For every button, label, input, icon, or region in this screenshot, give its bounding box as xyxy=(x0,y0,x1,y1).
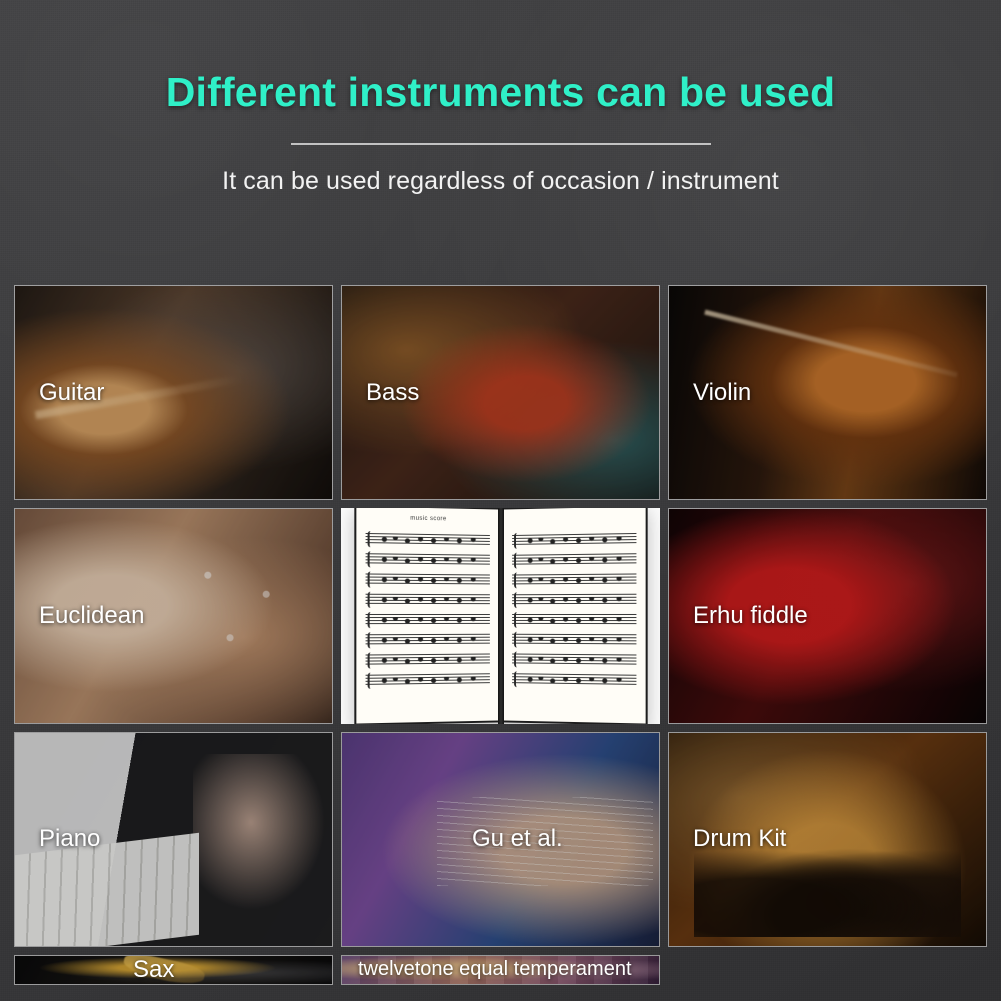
grid-cell-guitar[interactable]: Guitar xyxy=(14,285,333,500)
page-subtitle: It can be used regardless of occasion / … xyxy=(0,167,1001,196)
staff-line xyxy=(365,673,489,687)
grid-cell-sheet-music[interactable]: music score xyxy=(341,508,660,723)
staff-line xyxy=(512,553,636,566)
staff-line xyxy=(512,634,636,647)
promo-banner: Different instruments can be used It can… xyxy=(0,0,1001,1001)
staff-line xyxy=(365,533,489,547)
grid-cell-bass[interactable]: Bass xyxy=(341,285,660,500)
staff-line xyxy=(365,553,489,566)
grid-cell-sax[interactable]: Sax xyxy=(14,955,333,985)
staff-line xyxy=(365,614,489,626)
grid-cell-label: Guitar xyxy=(15,379,104,407)
sheet-title: music score xyxy=(356,515,498,524)
music-page-right xyxy=(502,508,647,723)
title-divider xyxy=(291,143,711,145)
grid-cell-euclidean[interactable]: Euclidean xyxy=(14,508,333,723)
grid-cell-piano[interactable]: Piano xyxy=(14,732,333,947)
grid-cell-label: Violin xyxy=(669,379,751,407)
grid-cell-label: Sax xyxy=(15,956,174,984)
grid-cell-violin[interactable]: Violin xyxy=(668,285,987,500)
grid-cell-guzheng[interactable]: Gu et al. xyxy=(341,732,660,947)
grid-cell-label: twelvetone equal temperament xyxy=(342,958,632,981)
staff-line xyxy=(365,634,489,647)
staff-group xyxy=(512,533,636,713)
staff-line xyxy=(512,594,636,606)
grid-cell-label: Erhu fiddle xyxy=(669,602,808,630)
sheet-music-photo: music score xyxy=(355,508,647,723)
staff-line xyxy=(512,533,636,547)
grid-cell-twelvetone[interactable]: twelvetone equal temperament xyxy=(341,955,660,985)
staff-line xyxy=(512,573,636,586)
grid-cell-erhu[interactable]: Erhu fiddle xyxy=(668,508,987,723)
staff-group xyxy=(365,533,489,713)
grid-cell-label: Piano xyxy=(15,825,100,853)
grid-cell-label: Euclidean xyxy=(15,602,144,630)
grid-cell-drum-kit[interactable]: Drum Kit xyxy=(668,732,987,947)
staff-line xyxy=(365,654,489,667)
music-page-left: music score xyxy=(354,508,499,723)
staff-line xyxy=(365,594,489,606)
grid-cell-label: Gu et al. xyxy=(342,825,563,853)
page-title: Different instruments can be used xyxy=(0,70,1001,115)
staff-line xyxy=(365,573,489,586)
grid-cell-label: Drum Kit xyxy=(669,825,786,853)
grid-cell-label: Bass xyxy=(342,379,419,407)
folder-spine xyxy=(498,508,504,723)
open-music-folder: music score xyxy=(355,508,647,723)
staff-line xyxy=(512,654,636,667)
staff-line xyxy=(512,614,636,626)
header: Different instruments can be used It can… xyxy=(0,0,1001,196)
instrument-grid: Guitar Bass Violin Euclidean music score xyxy=(14,285,987,985)
staff-line xyxy=(512,673,636,687)
